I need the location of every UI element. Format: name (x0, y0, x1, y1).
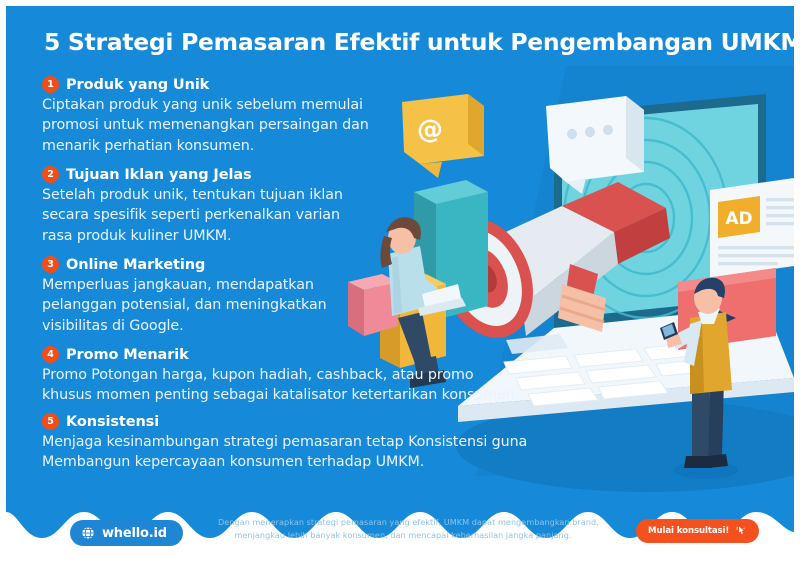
list-item-title: Online Marketing (66, 257, 205, 273)
list-item: 2 Tujuan Iklan yang Jelas Setelah produk… (42, 166, 343, 246)
email-bubble-icon: @ (402, 94, 484, 178)
body-line: promosi untuk memenangkan persaingan dan (42, 115, 369, 135)
body-line: khusus momen penting sebagai katalisator… (42, 385, 519, 405)
poster-canvas: @ AD (6, 6, 794, 568)
body-line: secara spesifik seperti perkenalkan vari… (42, 205, 343, 225)
body-line: pelanggan potensial, dan meningkatkan (42, 295, 327, 315)
list-item-body: Memperluas jangkauan, mendapatkan pelang… (42, 275, 327, 336)
globe-icon (81, 526, 95, 540)
footer-description: Dengan menerapkan strategi pemasaran yan… (218, 516, 588, 541)
body-line: Menjaga kesinambungan strategi pemasaran… (42, 432, 527, 452)
list-item-header: 3 Online Marketing (42, 256, 327, 273)
body-line: Membangun kepercayaan konsumen terhadap … (42, 452, 527, 472)
list-item: 4 Promo Menarik Promo Potongan harga, ku… (42, 346, 519, 406)
cta-label: Mulai konsultasi! (648, 526, 729, 536)
brand-logo-text: whello.id (102, 526, 167, 541)
number-badge: 3 (42, 256, 59, 273)
brand-logo[interactable]: whello.id (70, 520, 183, 546)
list-item-header: 5 Konsistensi (42, 413, 527, 430)
body-line: Ciptakan produk yang unik sebelum memula… (42, 95, 369, 115)
body-line: Promo Potongan harga, kupon hadiah, cash… (42, 365, 519, 385)
list-item-header: 2 Tujuan Iklan yang Jelas (42, 166, 343, 183)
page-title: 5 Strategi Pemasaran Efektif untuk Penge… (44, 28, 774, 56)
footer-description-line: menjangkau lebih banyak konsumen, dan me… (218, 529, 588, 542)
list-item: 1 Produk yang Unik Ciptakan produk yang … (42, 76, 369, 156)
body-line: visibilitas di Google. (42, 316, 327, 336)
list-item-header: 1 Produk yang Unik (42, 76, 369, 93)
body-line: rasa produk kuliner UMKM. (42, 226, 343, 246)
number-badge: 2 (42, 166, 59, 183)
body-line: Memperluas jangkauan, mendapatkan (42, 275, 327, 295)
number-badge: 4 (42, 346, 59, 363)
email-at-symbol: @ (417, 115, 443, 145)
list-item-title: Produk yang Unik (66, 77, 209, 93)
number-badge: 5 (42, 413, 59, 430)
list-item-body: Promo Potongan harga, kupon hadiah, cash… (42, 365, 519, 406)
start-consultation-button[interactable]: Mulai konsultasi! (636, 519, 759, 543)
footer: whello.id Dengan menerapkan strategi pem… (6, 508, 794, 568)
infographic-poster: @ AD (0, 0, 800, 574)
list-item-title: Promo Menarik (66, 347, 189, 363)
list-item: 5 Konsistensi Menjaga kesinambungan stra… (42, 413, 527, 473)
list-item: 3 Online Marketing Memperluas jangkauan,… (42, 256, 327, 336)
list-item-title: Konsistensi (66, 414, 159, 430)
list-item-body: Setelah produk unik, tentukan tujuan ikl… (42, 185, 343, 246)
list-item-header: 4 Promo Menarik (42, 346, 519, 363)
list-item-body: Menjaga kesinambungan strategi pemasaran… (42, 432, 527, 473)
list-item-title: Tujuan Iklan yang Jelas (66, 167, 252, 183)
ad-card-icon: AD (710, 178, 794, 278)
number-badge: 1 (42, 76, 59, 93)
list-item-body: Ciptakan produk yang unik sebelum memula… (42, 95, 369, 156)
body-line: Setelah produk unik, tentukan tujuan ikl… (42, 185, 343, 205)
footer-description-line: Dengan menerapkan strategi pemasaran yan… (218, 516, 588, 529)
body-line: menarik perhatian konsumen. (42, 136, 369, 156)
ad-card-label: AD (725, 209, 752, 229)
click-cursor-icon (735, 525, 747, 537)
